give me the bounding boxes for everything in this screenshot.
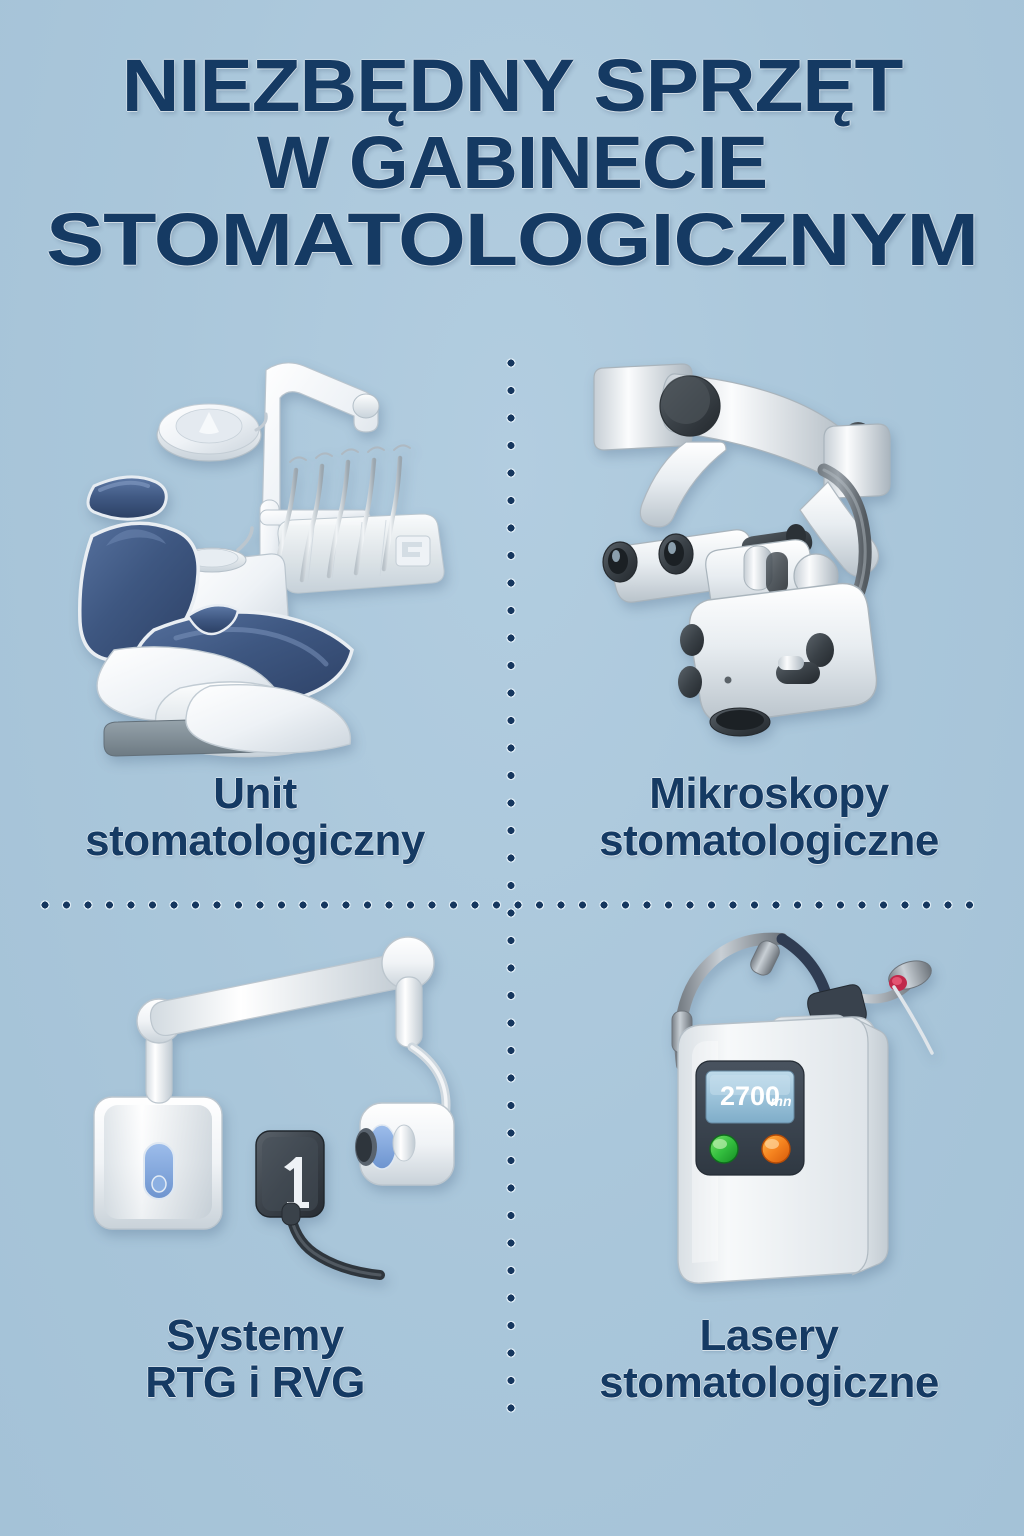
label-unit-stomatologiczny: Unit stomatologiczny (10, 770, 500, 864)
vertical-dotted-divider (506, 358, 517, 1428)
stop-button (762, 1135, 790, 1163)
label-line-1: Mikroskopy (524, 770, 1014, 817)
label-line-2: stomatologiczny (10, 817, 500, 864)
label-line-1: Lasery (524, 1312, 1014, 1359)
dental-chair-illustration (70, 350, 500, 770)
label-mikroskopy-stomatologiczne: Mikroskopy stomatologiczne (524, 770, 1014, 864)
page-title: NIEZBĘDNY SPRZĘT W GABINECIE STOMATOLOGI… (0, 50, 1024, 275)
label-line-1: Unit (10, 770, 500, 817)
label-line-2: stomatologiczne (524, 817, 1014, 864)
title-line-3: STOMATOLOGICZNYM (0, 204, 1024, 275)
label-systemy-rtg-i-rvg: Systemy RTG i RVG (10, 1312, 500, 1406)
label-line-1: Systemy (10, 1312, 500, 1359)
xray-rvg-illustration (60, 925, 500, 1295)
poster-canvas: NIEZBĘDNY SPRZĘT W GABINECIE STOMATOLOGI… (0, 0, 1024, 1536)
title-line-1: NIEZBĘDNY SPRZĘT (0, 50, 1024, 121)
label-line-2: stomatologiczne (524, 1359, 1014, 1406)
laser-display-unit: mn (771, 1093, 792, 1109)
start-button (710, 1135, 738, 1163)
dental-laser-illustration: 2700 mn (630, 925, 1000, 1305)
dental-microscope-illustration (580, 350, 1000, 760)
label-lasery-stomatologiczne: Lasery stomatologiczne (524, 1312, 1014, 1406)
title-line-2: W GABINECIE (0, 127, 1024, 198)
label-line-2: RTG i RVG (10, 1359, 500, 1406)
